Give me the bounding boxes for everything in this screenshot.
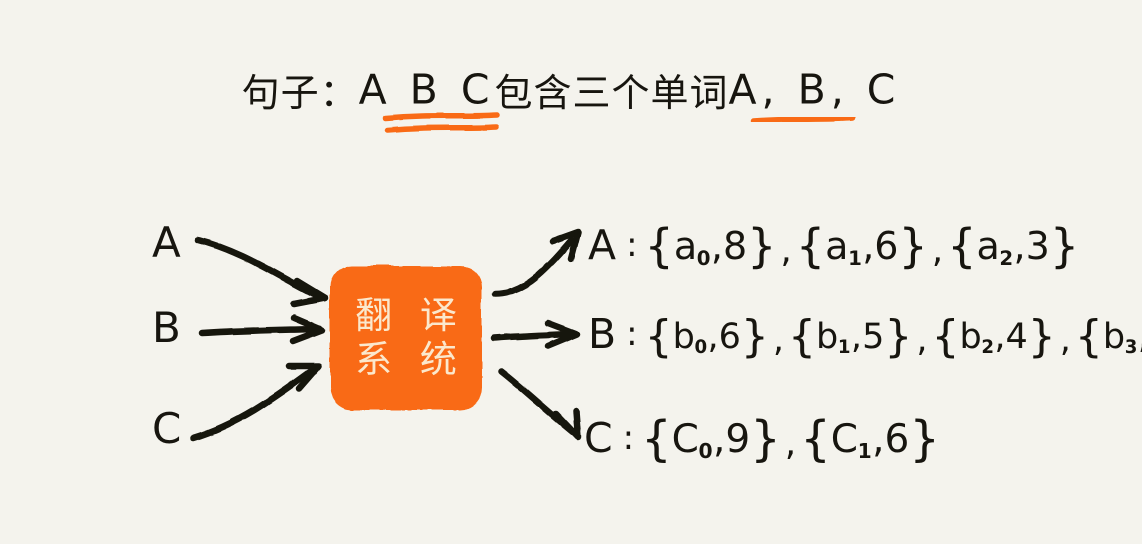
brace-close: } xyxy=(909,411,940,467)
output-row-a: A:{a0,8},{a1,6},{a2,3} xyxy=(588,220,1079,266)
brace-open: { xyxy=(1075,311,1103,362)
input-label-b: B xyxy=(152,307,182,349)
underline-sentence xyxy=(386,115,497,130)
brace-open: { xyxy=(788,311,816,362)
system-box[interactable]: 翻 译 系 统 xyxy=(326,262,486,414)
brace-open: { xyxy=(645,219,674,273)
input-label-c: C xyxy=(152,408,182,450)
pair-comma: , xyxy=(1138,317,1142,357)
output-row-b: B:{b0,6},{b1,5},{b2,4},{b3,2} xyxy=(588,312,1142,356)
arrow-c-to-box xyxy=(193,366,319,438)
pair-value: 6 xyxy=(719,317,741,357)
output-pair: {C0,9} xyxy=(641,412,781,460)
pair-token: a xyxy=(825,224,848,268)
brace-close: } xyxy=(747,219,776,273)
brace-close: } xyxy=(1028,311,1056,362)
pair-subscript: 1 xyxy=(858,439,872,463)
brace-open: { xyxy=(931,311,959,362)
title-prefix: 句子： xyxy=(242,71,359,115)
pair-token: b xyxy=(816,317,838,357)
output-colon-c: : xyxy=(614,418,641,458)
pair-comma: , xyxy=(862,224,874,268)
pair-separator: , xyxy=(769,320,788,360)
arrow-box-to-a xyxy=(496,232,578,294)
brace-open: { xyxy=(800,411,831,467)
system-box-label: 翻 译 系 统 xyxy=(326,262,486,414)
title-words: A, B, C xyxy=(728,66,900,114)
pair-token: b xyxy=(673,317,695,357)
output-key-a: A xyxy=(588,221,617,269)
pair-token: b xyxy=(959,317,981,357)
underline-words xyxy=(753,118,853,121)
output-key-b: B xyxy=(588,310,617,358)
pair-separator: , xyxy=(912,320,931,360)
arrow-a-to-box xyxy=(198,240,325,304)
brace-close: } xyxy=(750,411,781,467)
pair-token: a xyxy=(977,224,1000,268)
output-pair: {b0,6} xyxy=(645,312,769,356)
system-box-line1: 翻 译 xyxy=(347,294,465,338)
pair-value: 8 xyxy=(723,224,747,268)
brace-open: { xyxy=(641,411,672,467)
pair-separator: , xyxy=(928,230,947,271)
pair-value: 4 xyxy=(1006,317,1028,357)
brace-close: } xyxy=(1050,219,1079,273)
output-pair: {b3,2} xyxy=(1075,312,1142,356)
output-pair: {C1,6} xyxy=(800,412,940,460)
output-row-c: C:{C0,9},{C1,6} xyxy=(584,412,940,460)
brace-open: { xyxy=(796,219,825,273)
pair-comma: , xyxy=(1014,224,1026,268)
pair-comma: , xyxy=(713,417,725,462)
system-box-line2: 系 统 xyxy=(347,338,465,382)
brace-close: } xyxy=(884,311,912,362)
brace-close: } xyxy=(741,311,769,362)
pair-comma: , xyxy=(851,317,862,357)
pair-separator: , xyxy=(776,230,795,271)
pair-subscript: 0 xyxy=(697,247,711,270)
pair-value: 3 xyxy=(1026,224,1050,268)
pair-value: 6 xyxy=(885,417,910,462)
pair-subscript: 1 xyxy=(838,337,851,358)
output-pair: {a2,3} xyxy=(947,220,1079,266)
output-colon-b: : xyxy=(617,314,644,354)
pair-subscript: 0 xyxy=(699,439,713,463)
pair-separator: , xyxy=(1056,320,1075,360)
pair-token: a xyxy=(674,224,697,268)
pair-subscript: 2 xyxy=(981,337,994,358)
output-pair: {a0,8} xyxy=(645,220,777,266)
pair-subscript: 2 xyxy=(999,247,1013,270)
brace-open: { xyxy=(947,219,976,273)
pair-token: C xyxy=(831,417,858,462)
pair-value: 5 xyxy=(862,317,884,357)
title-sentence: A B C xyxy=(359,66,495,114)
input-label-a: A xyxy=(152,222,182,264)
pair-subscript: 3 xyxy=(1125,337,1138,358)
arrow-b-to-box xyxy=(202,318,322,341)
arrow-box-to-c xyxy=(502,372,578,437)
output-pair: {b2,4} xyxy=(931,312,1055,356)
pair-separator: , xyxy=(781,423,800,464)
pair-comma: , xyxy=(711,224,723,268)
pair-subscript: 1 xyxy=(848,247,862,270)
brace-open: { xyxy=(645,311,673,362)
output-pair: {a1,6} xyxy=(796,220,928,266)
output-colon-a: : xyxy=(617,225,644,265)
pair-comma: , xyxy=(994,317,1005,357)
brace-close: } xyxy=(898,219,927,273)
title-middle: 包含三个单词 xyxy=(494,71,728,115)
arrow-box-to-b xyxy=(494,323,577,346)
pair-comma: , xyxy=(872,417,884,462)
output-pair: {b1,5} xyxy=(788,312,912,356)
pair-subscript: 0 xyxy=(694,337,707,358)
pair-token: C xyxy=(672,417,699,462)
page-title: 句子：A B C包含三个单词A, B, C xyxy=(0,62,1142,117)
pair-token: b xyxy=(1103,317,1125,357)
pair-value: 6 xyxy=(874,224,898,268)
pair-value: 9 xyxy=(725,417,750,462)
output-key-c: C xyxy=(584,414,614,462)
pair-comma: , xyxy=(707,317,718,357)
